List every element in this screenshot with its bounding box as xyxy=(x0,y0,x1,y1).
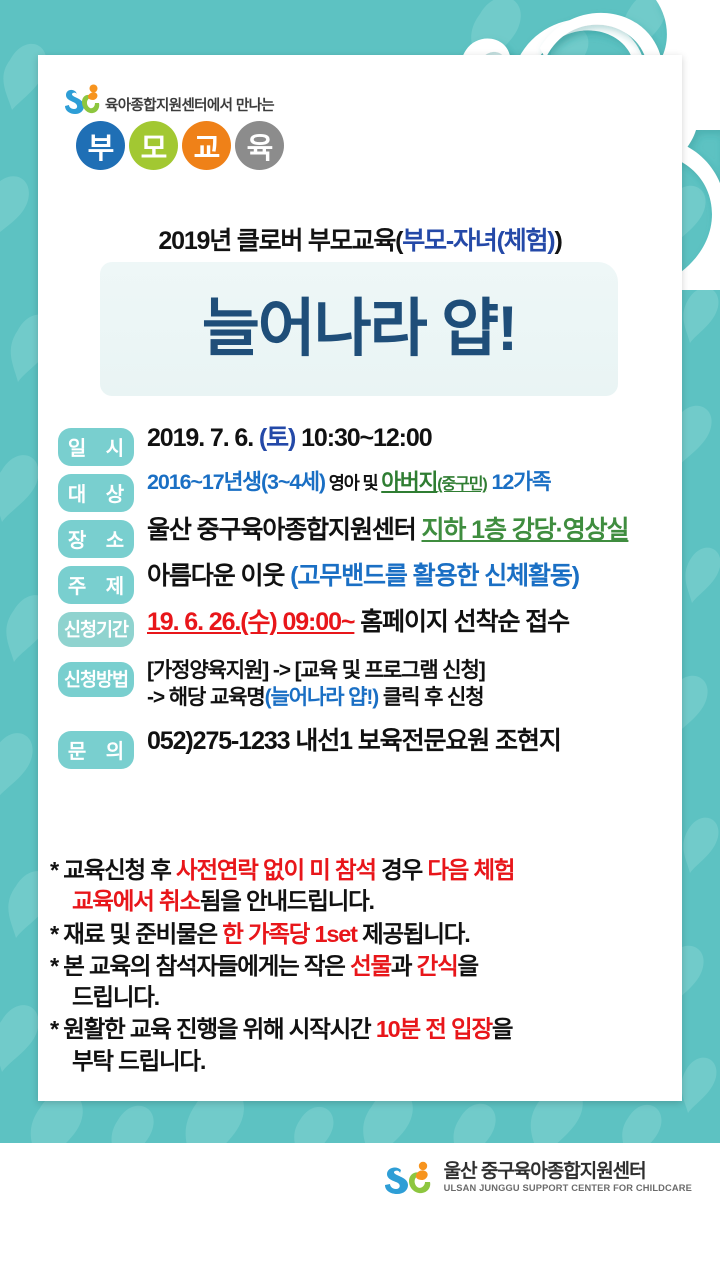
apply-method-line1: [가정양육지원] -> [교육 및 프로그램 신청] xyxy=(147,659,485,682)
target-birthyear: 2016~17년생(3~4세) xyxy=(147,470,325,494)
note3-p2: 과 xyxy=(391,953,417,979)
apply-period-note: 홈페이지 선착순 접수 xyxy=(354,608,569,636)
note4-p2: 을 xyxy=(492,1016,512,1042)
badge-apply-method: 신청방법 xyxy=(58,662,134,697)
note3-p0: * 본 교육의 참석자들에게는 작은 xyxy=(50,953,350,979)
badge-topic: 주 제 xyxy=(58,566,134,604)
apply-period-start: 19. 6. 26.(수) 09:00~ xyxy=(147,608,354,636)
value-datetime: 2019. 7. 6. (토) 10:30~12:00 xyxy=(134,423,432,454)
info-row-place: 장 소 울산 중구육아종합지원센터 지하 1층 강당·영상실 xyxy=(58,515,682,558)
note3-c0: 드립니다. xyxy=(50,982,159,1013)
footer-logo-group: 울산 중구육아종합지원센터 ULSAN JUNGGU SUPPORT CENTE… xyxy=(383,1161,692,1195)
note2-p1: 한 가족당 1set xyxy=(222,921,357,947)
place-center: 울산 중구육아종합지원센터 xyxy=(147,516,422,544)
note-item-2: * 재료 및 준비물은 한 가족당 1set 제공됩니다. xyxy=(50,919,672,950)
note2-p2: 제공됩니다. xyxy=(357,921,470,947)
info-row-topic: 주 제 아름다운 이웃 (고무밴드를 활용한 신체활동) xyxy=(58,561,682,604)
apply-method-program: (늘어나라 얍!) xyxy=(265,686,379,709)
poster-root: 육아종합지원센터에서 만나는 부 모 교 육 2019년 클로버 부모교육(부모… xyxy=(0,0,720,1280)
note1-c0: 교육에서 취소 xyxy=(72,888,200,914)
value-place: 울산 중구육아종합지원센터 지하 1층 강당·영상실 xyxy=(134,515,628,546)
info-row-target: 대 상 2016~17년생(3~4세) 영아 및 아버지(중구민) 12가족 xyxy=(58,469,682,512)
value-apply-period: 19. 6. 26.(수) 09:00~ 홈페이지 선착순 접수 xyxy=(134,607,569,638)
place-room: 지하 1층 강당·영상실 xyxy=(422,516,629,544)
subtitle-highlight: 부모-자녀(체험) xyxy=(402,227,554,255)
footer-center-name-ko: 울산 중구육아종합지원센터 xyxy=(444,1162,692,1181)
info-row-list: 일 시 2019. 7. 6. (토) 10:30~12:00 대 상 2016… xyxy=(58,423,682,772)
datetime-time: 10:30~12:00 xyxy=(295,424,431,452)
value-apply-method: [가정양육지원] -> [교육 및 프로그램 신청] -> 해당 교육명(늘어나… xyxy=(134,657,485,712)
logo-syllable-circles: 부 모 교 육 xyxy=(76,121,284,170)
note4-p1: 10분 전 입장 xyxy=(376,1016,492,1042)
apply-method-line2-prefix: -> 해당 교육명 xyxy=(147,686,265,709)
footer-center-name-en: ULSAN JUNGGU SUPPORT CENTER FOR CHILDCAR… xyxy=(444,1184,692,1193)
note1-p3: 다음 체험 xyxy=(427,857,514,883)
datetime-weekday: (토) xyxy=(259,424,295,452)
topic-main: 아름다운 이웃 xyxy=(147,562,290,590)
value-topic: 아름다운 이웃 (고무밴드를 활용한 신체활동) xyxy=(134,561,579,592)
center-logo: 육아종합지원센터에서 만나는 부 모 교 육 xyxy=(63,83,284,170)
program-subtitle: 2019년 클로버 부모교육(부모-자녀(체험)) xyxy=(38,221,682,257)
note3-p3: 간식 xyxy=(417,953,458,979)
apply-method-line2-suffix: 클릭 후 신청 xyxy=(378,686,483,709)
logo-tagline: 육아종합지원센터에서 만나는 xyxy=(105,94,274,117)
note3-p4: 을 xyxy=(458,953,478,979)
subtitle-suffix: ) xyxy=(554,227,561,255)
logo-circle-mo: 모 xyxy=(129,121,178,170)
value-target: 2016~17년생(3~4세) 영아 및 아버지(중구민) 12가족 xyxy=(134,469,551,495)
program-title-box: 늘어나라 얍! xyxy=(100,262,618,396)
target-residency: (중구민) xyxy=(437,476,486,493)
sc-swirl-icon xyxy=(383,1161,435,1195)
note1-c1: 됨을 안내드립니다. xyxy=(200,888,374,914)
note2-p0: * 재료 및 준비물은 xyxy=(50,921,222,947)
info-row-apply-method: 신청방법 [가정양육지원] -> [교육 및 프로그램 신청] -> 해당 교육… xyxy=(58,657,682,712)
note4-p0: * 원활한 교육 진행을 위해 시작시간 xyxy=(50,1016,376,1042)
info-row-apply-period: 신청기간 19. 6. 26.(수) 09:00~ 홈페이지 선착순 접수 xyxy=(58,607,682,647)
poster-footer: 울산 중구육아종합지원센터 ULSAN JUNGGU SUPPORT CENTE… xyxy=(0,1143,720,1280)
target-conn: 영아 및 xyxy=(325,473,381,493)
subtitle-prefix: 2019년 클로버 부모교육( xyxy=(158,227,402,255)
poster-card: 육아종합지원센터에서 만나는 부 모 교 육 2019년 클로버 부모교육(부모… xyxy=(38,55,682,1101)
logo-circle-gyo: 교 xyxy=(182,121,231,170)
note3-p1: 선물 xyxy=(350,953,391,979)
sc-swirl-icon xyxy=(63,83,101,117)
badge-place: 장 소 xyxy=(58,520,134,558)
target-count: 12가족 xyxy=(487,470,551,494)
logo-circle-yuk: 육 xyxy=(235,121,284,170)
value-contact: 052)275-1233 내선1 보육전문요원 조현지 xyxy=(134,726,561,757)
badge-datetime: 일 시 xyxy=(58,428,134,466)
topic-detail: (고무밴드를 활용한 신체활동) xyxy=(290,562,579,590)
note1-p1: 사전연락 없이 미 참석 xyxy=(176,857,376,883)
datetime-date: 2019. 7. 6. xyxy=(147,424,259,452)
footer-text-group: 울산 중구육아종합지원센터 ULSAN JUNGGU SUPPORT CENTE… xyxy=(444,1162,692,1193)
badge-apply-period: 신청기간 xyxy=(58,612,134,647)
notes-list: * 교육신청 후 사전연락 없이 미 참석 경우 다음 체험 교육에서 취소됨을… xyxy=(50,855,672,1078)
badge-target: 대 상 xyxy=(58,474,134,512)
program-title: 늘어나라 얍! xyxy=(202,298,516,361)
badge-contact: 문 의 xyxy=(58,731,134,769)
info-row-datetime: 일 시 2019. 7. 6. (토) 10:30~12:00 xyxy=(58,423,682,466)
note4-c0: 부탁 드립니다. xyxy=(50,1046,205,1077)
note-item-1: * 교육신청 후 사전연락 없이 미 참석 경우 다음 체험 교육에서 취소됨을… xyxy=(50,855,672,918)
logo-circle-bu: 부 xyxy=(76,121,125,170)
info-row-contact: 문 의 052)275-1233 내선1 보육전문요원 조현지 xyxy=(58,726,682,769)
note1-p0: * 교육신청 후 xyxy=(50,857,176,883)
note-item-4: * 원활한 교육 진행을 위해 시작시간 10분 전 입장을 부탁 드립니다. xyxy=(50,1014,672,1077)
note-item-3: * 본 교육의 참석자들에게는 작은 선물과 간식을 드립니다. xyxy=(50,951,672,1014)
target-father: 아버지 xyxy=(381,470,437,494)
note1-p2: 경우 xyxy=(376,857,428,883)
